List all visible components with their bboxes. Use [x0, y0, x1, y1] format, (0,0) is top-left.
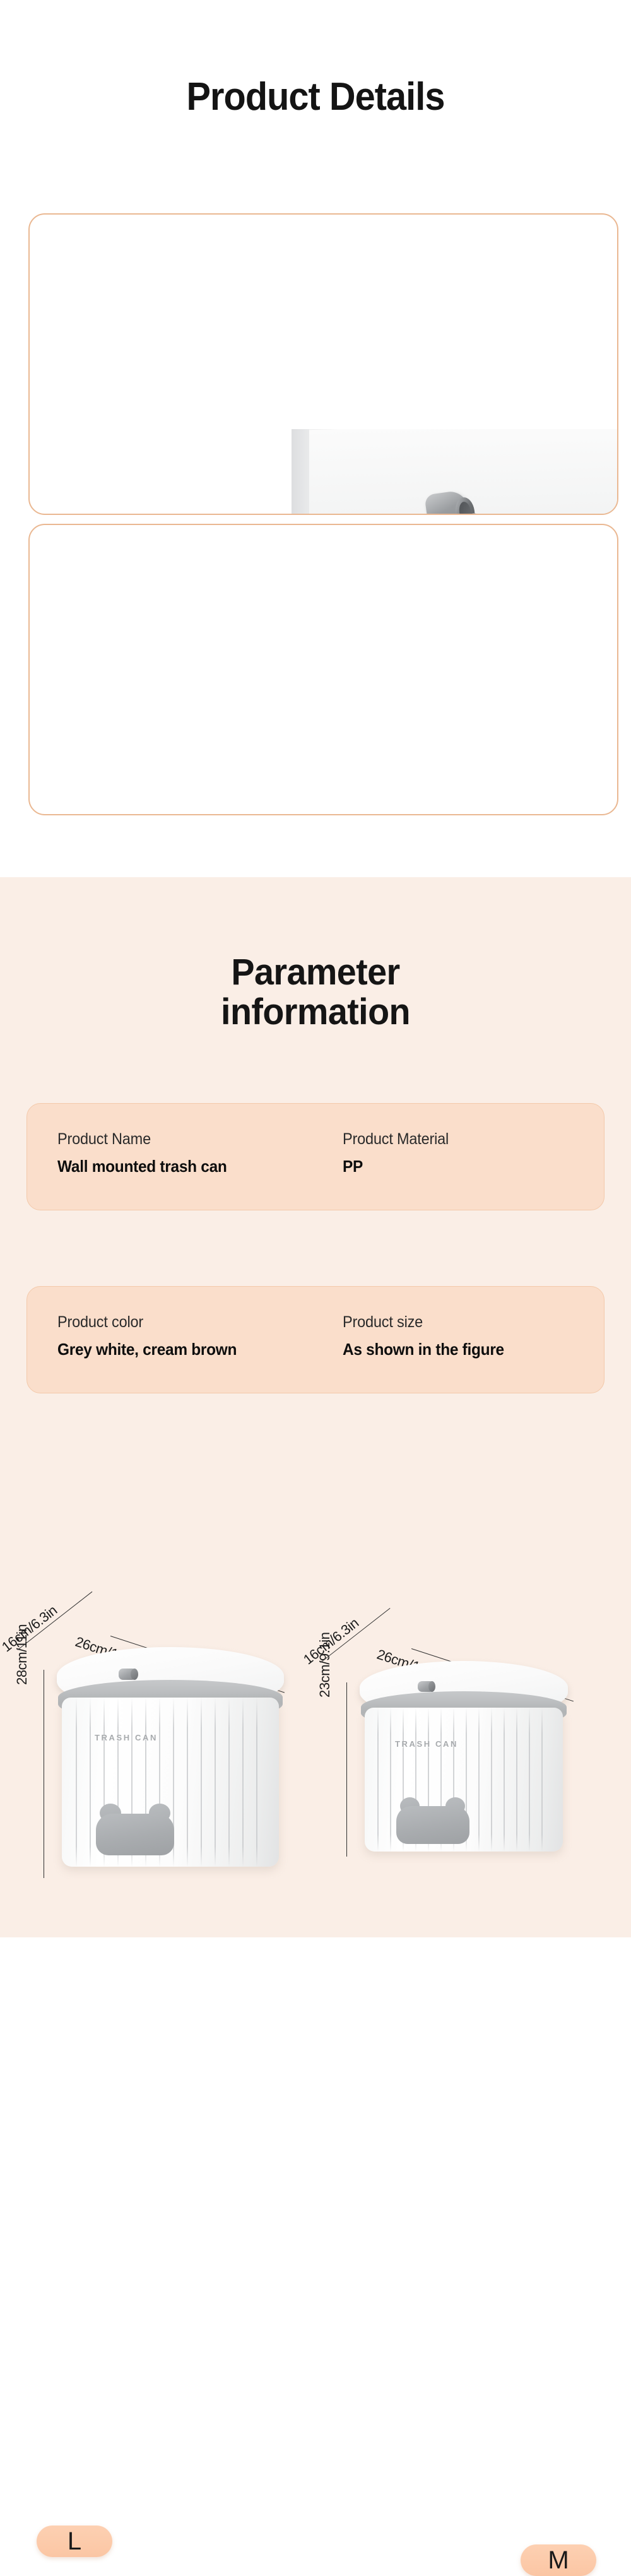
feature-card-bag-compartment: Garbagebag storagecompartment [28, 524, 618, 815]
size-badge-medium[interactable]: M [521, 2544, 596, 2576]
dimension-leader-height [44, 1670, 44, 1878]
parameter-row: Product color Grey white, cream brown Pr… [27, 1286, 604, 1393]
parameter-value: Wall mounted trash can [57, 1157, 227, 1176]
parameter-cell-product-material: Product Material PP [343, 1130, 456, 1176]
parameter-label: Product Name [57, 1130, 227, 1149]
handle-tail [472, 513, 481, 515]
bear-face-flap [96, 1814, 174, 1855]
product-details-section: Product Details TRASH Silicone handledes… [0, 0, 631, 877]
parameter-label: Product color [57, 1313, 237, 1332]
parameter-cell-product-color: Product color Grey white, cream brown [57, 1313, 248, 1359]
size-badge-large[interactable]: L [37, 2526, 112, 2557]
dimension-height-label: 23cm/9.1in [317, 1632, 333, 1698]
can-handle-knob-cap [131, 1669, 138, 1680]
parameter-label: Product size [343, 1313, 504, 1332]
parameter-row: Product Name Wall mounted trash can Prod… [27, 1103, 604, 1210]
can-brand-text: TRASH CAN [395, 1739, 458, 1749]
size-diagram-large: 16cm/6.3in 26cm/10.2in 28cm/11in TRASH C… [0, 1603, 315, 1937]
can-left-edge [292, 429, 309, 515]
parameter-cell-product-size: Product size As shown in the figure [343, 1313, 514, 1359]
parameter-information-section: Parameterinformation Product Name Wall m… [0, 877, 631, 1937]
parameter-value: PP [343, 1157, 449, 1176]
parameter-label: Product Material [343, 1130, 449, 1149]
page-title: Product Details [22, 74, 609, 119]
can-handle-knob-cap [428, 1681, 435, 1692]
parameter-section-title: Parameterinformation [13, 953, 618, 1032]
bear-face-flap [396, 1806, 469, 1844]
product-photo-handle: TRASH [292, 429, 618, 515]
parameter-cell-product-name: Product Name Wall mounted trash can [57, 1130, 238, 1176]
dimension-leader-height [346, 1682, 347, 1857]
feature-card-silicone-handle: TRASH Silicone handledesign [28, 213, 618, 515]
size-diagram-medium: 16cm/6.3in 26cm/10.2in 23cm/9.1in TRASH … [315, 1622, 631, 1937]
can-brand-text: TRASH CAN [95, 1733, 158, 1742]
dimension-height-label: 28cm/11in [14, 1624, 30, 1685]
parameter-value: Grey white, cream brown [57, 1340, 237, 1359]
silicone-handle-icon [427, 490, 482, 515]
parameter-value: As shown in the figure [343, 1340, 504, 1359]
